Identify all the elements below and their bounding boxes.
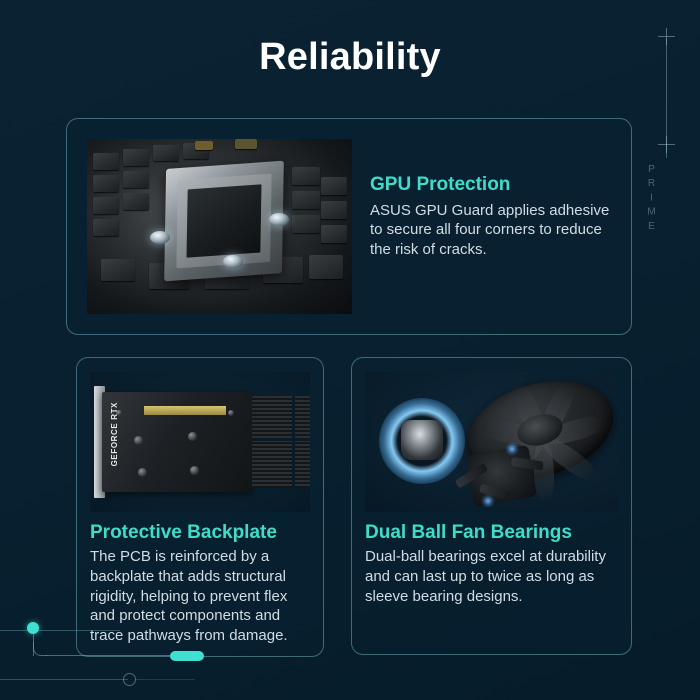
card-title: Dual Ball Fan Bearings <box>365 522 618 544</box>
bearing-mount-assembly <box>465 445 537 507</box>
pcie-gold-fingers <box>144 406 226 415</box>
card-title: GPU Protection <box>370 173 611 197</box>
trace-line <box>0 630 120 631</box>
trace-line <box>46 655 172 656</box>
slide-root: PRIME Reliability <box>0 0 700 700</box>
circuit-node-dot <box>27 622 39 634</box>
adhesive-corner-icon <box>269 213 289 226</box>
highlight-spark-icon <box>505 442 519 456</box>
adhesive-corner-icon <box>150 231 170 244</box>
dual-ball-bearing-closeup <box>401 420 443 460</box>
card-body: Dual-ball bearings excel at durability a… <box>365 547 618 606</box>
page-title: Reliability <box>0 36 700 79</box>
dual-ball-bearing-fan-photo <box>365 372 618 512</box>
card-body: ASUS GPU Guard applies adhesive to secur… <box>370 201 611 260</box>
backplate-brand-text: GEFORCE RTX <box>110 402 119 466</box>
plus-mark-icon <box>658 136 675 153</box>
bottom-left-circuit-trace <box>0 590 330 700</box>
card-title: Protective Backplate <box>90 522 310 544</box>
side-rail-label: PRIME <box>646 164 657 235</box>
graphics-card-backplate-photo: GEFORCE RTX <box>90 372 310 512</box>
gpu-protection-text: GPU Protection ASUS GPU Guard applies ad… <box>370 139 611 314</box>
trace-line <box>0 679 128 680</box>
adhesive-corner-icon <box>223 255 243 268</box>
heatsink-fins <box>252 396 310 488</box>
gpu-die-closeup-photo <box>87 139 352 314</box>
card-dual-ball-fan-bearings: Dual Ball Fan Bearings Dual-ball bearing… <box>351 357 632 655</box>
highlight-spark-icon <box>481 494 495 508</box>
backplate-body <box>102 392 252 492</box>
card-gpu-protection: GPU Protection ASUS GPU Guard applies ad… <box>66 118 632 335</box>
circuit-node-pill <box>170 651 204 661</box>
trace-elbow <box>33 642 47 656</box>
trace-line <box>135 679 195 680</box>
